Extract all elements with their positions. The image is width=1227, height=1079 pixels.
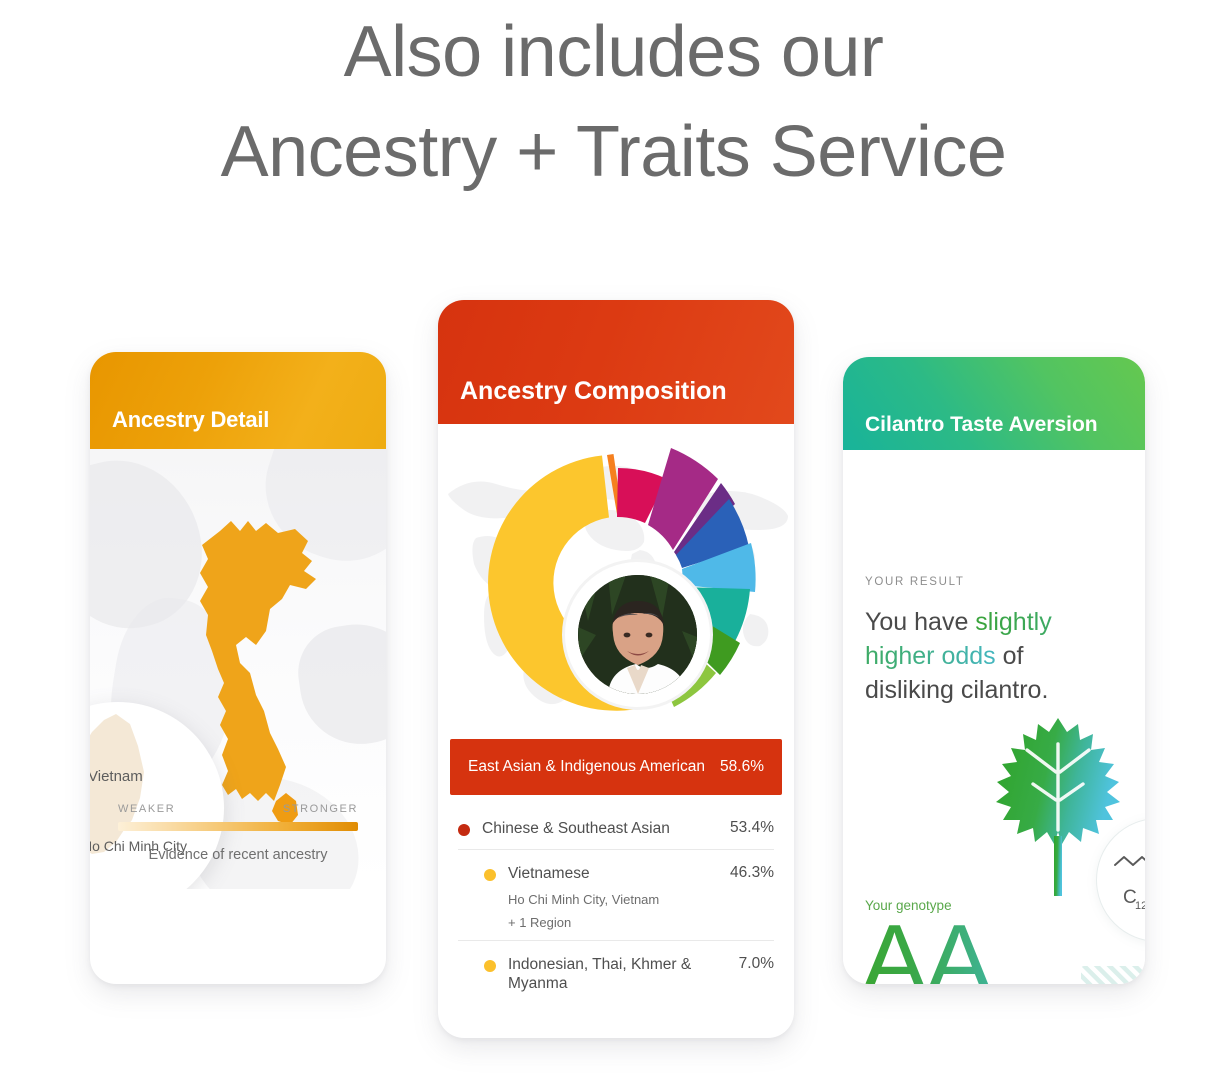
ancestry-strength-legend: WEAKER STRONGER Evidence of recent ances… bbox=[90, 803, 386, 863]
list-item-left: Indonesian, Thai, Khmer & Myanma bbox=[484, 955, 739, 995]
vietnam-map-area[interactable]: Vietnam Ho Chi Minh City WEAKER STRONGER… bbox=[90, 449, 386, 889]
legend-dot-icon bbox=[484, 869, 496, 881]
list-item-left: Vietnamese bbox=[484, 864, 730, 884]
map-country-label: Vietnam bbox=[90, 768, 143, 785]
ancestry-detail-header: Ancestry Detail bbox=[90, 352, 386, 449]
svg-text:12: 12 bbox=[1135, 900, 1145, 912]
legend-dot-icon bbox=[484, 960, 496, 972]
result-sentence: You have slightly higher odds of disliki… bbox=[865, 605, 1103, 707]
list-item[interactable]: Vietnamese 46.3% Ho Chi Minh City, Vietn… bbox=[458, 849, 774, 940]
result-text-prefix: You have bbox=[865, 608, 975, 636]
page-title: Also includes our Ancestry + Traits Serv… bbox=[0, 0, 1227, 202]
legend-labels: WEAKER STRONGER bbox=[118, 803, 358, 815]
list-item[interactable]: Chinese & Southeast Asian 53.4% bbox=[458, 805, 774, 849]
summary-label: East Asian & Indigenous American bbox=[468, 758, 705, 776]
legend-weaker-label: WEAKER bbox=[118, 803, 175, 815]
ancestry-composition-card[interactable]: Ancestry Composition bbox=[438, 300, 794, 1038]
ancestry-detail-card[interactable]: Ancestry Detail bbox=[90, 352, 386, 984]
cilantro-body: YOUR RESULT You have slightly higher odd… bbox=[843, 450, 1145, 984]
composition-summary-bar[interactable]: East Asian & Indigenous American 58.6% bbox=[450, 739, 782, 795]
headline-line-1: Also includes our bbox=[0, 2, 1227, 102]
composition-breakdown-list: Chinese & Southeast Asian 53.4% Vietname… bbox=[438, 795, 794, 1004]
headline-line-2: Ancestry + Traits Service bbox=[0, 102, 1227, 202]
ancestry-composition-title: Ancestry Composition bbox=[438, 377, 749, 425]
list-item-label: Chinese & Southeast Asian bbox=[482, 819, 670, 839]
list-item-main: Indonesian, Thai, Khmer & Myanma 7.0% bbox=[484, 955, 774, 995]
legend-gradient-bar bbox=[118, 822, 358, 831]
molecule-badge: O C 12 H 22 O bbox=[1096, 818, 1145, 942]
list-item-main: Vietnamese 46.3% bbox=[484, 864, 774, 884]
list-item-percent: 53.4% bbox=[730, 819, 774, 837]
legend-caption: Evidence of recent ancestry bbox=[118, 847, 358, 863]
user-avatar[interactable] bbox=[578, 575, 697, 694]
list-item-left: Chinese & Southeast Asian bbox=[458, 819, 730, 839]
list-item-label: Vietnamese bbox=[508, 864, 590, 884]
ancestry-detail-title: Ancestry Detail bbox=[90, 407, 291, 449]
summary-percent: 58.6% bbox=[720, 758, 764, 776]
avatar-portrait-icon bbox=[578, 575, 697, 694]
cilantro-taste-card[interactable]: Cilantro Taste Aversion YOUR RESULT You … bbox=[843, 357, 1145, 984]
legend-dot-icon bbox=[458, 824, 470, 836]
list-item-percent: 7.0% bbox=[739, 955, 774, 973]
ancestry-composition-header: Ancestry Composition bbox=[438, 300, 794, 424]
molecule-formula-icon: O C 12 H 22 O bbox=[1097, 819, 1145, 943]
list-item-label: Indonesian, Thai, Khmer & Myanma bbox=[508, 955, 729, 995]
list-item[interactable]: Indonesian, Thai, Khmer & Myanma 7.0% bbox=[458, 940, 774, 1005]
list-item-extra-regions[interactable]: + 1 Region bbox=[508, 915, 774, 930]
ancestry-donut-chart[interactable] bbox=[438, 424, 794, 736]
list-item-percent: 46.3% bbox=[730, 864, 774, 882]
poster-canvas: Also includes our Ancestry + Traits Serv… bbox=[0, 0, 1227, 1079]
hatched-decoration-icon bbox=[1081, 966, 1145, 984]
legend-stronger-label: STRONGER bbox=[283, 803, 358, 815]
result-label: YOUR RESULT bbox=[865, 576, 965, 588]
genotype-value: AA bbox=[861, 908, 990, 984]
list-item-main: Chinese & Southeast Asian 53.4% bbox=[458, 819, 774, 839]
cilantro-header: Cilantro Taste Aversion bbox=[843, 357, 1145, 450]
cilantro-title: Cilantro Taste Aversion bbox=[843, 413, 1120, 450]
list-item-location: Ho Chi Minh City, Vietnam bbox=[508, 892, 774, 907]
